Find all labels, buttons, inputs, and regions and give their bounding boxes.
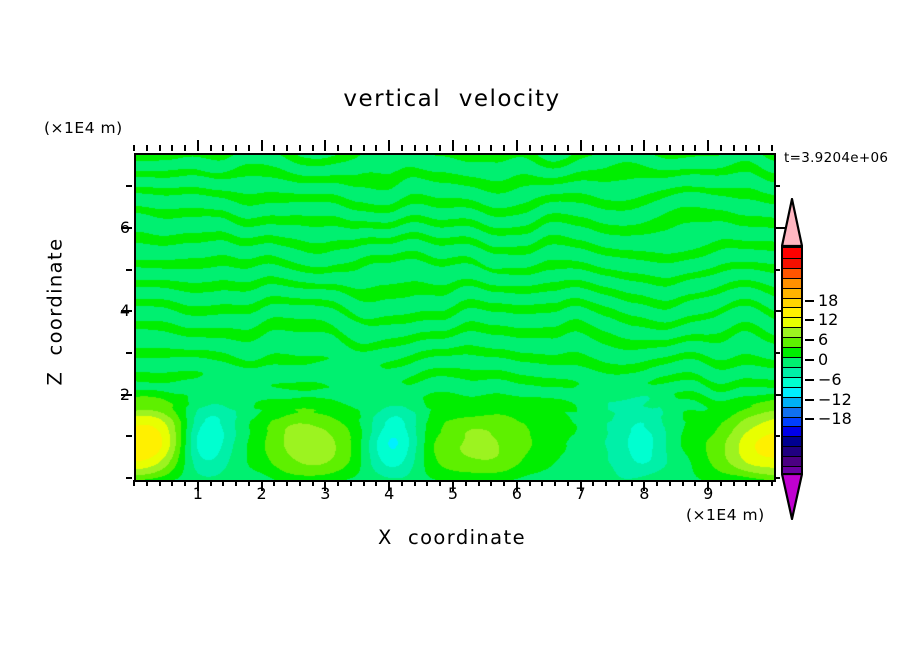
y-axis-minor-tick bbox=[126, 435, 132, 437]
x-axis-minor-tick bbox=[490, 480, 492, 486]
x-axis-top-tick bbox=[286, 145, 288, 151]
x-axis-top-tick bbox=[324, 140, 326, 151]
x-axis-top-tick bbox=[388, 140, 390, 151]
colorbar-band bbox=[783, 426, 801, 437]
x-axis-minor-tick bbox=[745, 480, 747, 486]
x-axis-top-tick bbox=[554, 145, 556, 151]
colorbar-over-arrow-icon bbox=[781, 198, 803, 247]
y-axis-tick-label: 2 bbox=[100, 385, 130, 404]
x-axis-top-tick bbox=[375, 145, 377, 151]
x-axis-top-tick bbox=[707, 140, 709, 151]
y-axis-minor-tick bbox=[126, 269, 132, 271]
x-axis-minor-tick bbox=[286, 480, 288, 486]
x-axis-top-tick bbox=[171, 145, 173, 151]
x-axis-top-tick bbox=[541, 145, 543, 151]
x-axis-top-tick bbox=[567, 145, 569, 151]
x-axis-top-tick bbox=[618, 145, 620, 151]
x-axis-top-tick bbox=[235, 145, 237, 151]
x-axis-top-tick bbox=[146, 145, 148, 151]
colorbar-tick bbox=[805, 359, 814, 361]
x-axis-top-tick bbox=[694, 145, 696, 151]
x-axis-tick-label: 5 bbox=[438, 484, 468, 503]
x-axis-minor-tick bbox=[146, 480, 148, 486]
x-axis-unit-label: (×1E4 m) bbox=[686, 506, 765, 524]
x-axis-tick-label: 3 bbox=[310, 484, 340, 503]
x-axis-top-tick bbox=[261, 140, 263, 151]
x-axis-top-tick bbox=[312, 145, 314, 151]
x-axis-tick-label: 6 bbox=[502, 484, 532, 503]
x-axis-top-tick bbox=[580, 140, 582, 151]
x-axis-minor-tick bbox=[605, 480, 607, 486]
colorbar-tick bbox=[805, 300, 814, 302]
x-axis-top-tick bbox=[159, 145, 161, 151]
x-axis-top-tick bbox=[184, 145, 186, 151]
x-axis-top-tick bbox=[592, 145, 594, 151]
colorbar-band bbox=[783, 288, 801, 299]
x-axis-top-tick bbox=[503, 145, 505, 151]
x-axis-top-tick bbox=[656, 145, 658, 151]
colorbar-band bbox=[783, 357, 801, 368]
x-axis-minor-tick bbox=[771, 480, 773, 486]
x-axis-minor-tick bbox=[733, 480, 735, 486]
colorbar-band bbox=[783, 307, 801, 318]
x-axis-minor-tick bbox=[758, 480, 760, 486]
x-axis-tick-label: 1 bbox=[183, 484, 213, 503]
colorbar-tick bbox=[805, 339, 814, 341]
page-title: vertical velocity bbox=[0, 86, 904, 112]
x-axis-top-tick bbox=[516, 140, 518, 151]
x-axis-minor-tick bbox=[222, 480, 224, 486]
x-axis-top-tick bbox=[439, 145, 441, 151]
x-axis-top-tick bbox=[452, 140, 454, 151]
x-axis-top-tick bbox=[465, 145, 467, 151]
x-axis-minor-tick bbox=[235, 480, 237, 486]
x-axis-minor-tick bbox=[414, 480, 416, 486]
x-axis-top-tick bbox=[745, 145, 747, 151]
y-axis-minor-tick bbox=[126, 185, 132, 187]
x-axis-top-tick bbox=[490, 145, 492, 151]
colorbar bbox=[779, 198, 805, 520]
x-axis-top-tick bbox=[248, 145, 250, 151]
colorbar-tick bbox=[805, 379, 814, 381]
x-axis-top-tick bbox=[771, 145, 773, 151]
colorbar-tick bbox=[805, 418, 814, 420]
x-axis-minor-tick bbox=[159, 480, 161, 486]
x-axis-minor-tick bbox=[426, 480, 428, 486]
y-axis-unit-label: (×1E4 m) bbox=[44, 119, 123, 137]
colorbar-tick-label: −18 bbox=[818, 409, 852, 428]
x-axis-top-tick bbox=[720, 145, 722, 151]
x-axis-top-tick bbox=[426, 145, 428, 151]
x-axis-minor-tick bbox=[133, 480, 135, 486]
x-axis-minor-tick bbox=[682, 480, 684, 486]
colorbar-under-arrow-icon bbox=[781, 473, 803, 520]
x-axis-top-tick bbox=[631, 145, 633, 151]
x-axis-top-tick bbox=[337, 145, 339, 151]
colorbar-tick bbox=[805, 399, 814, 401]
x-axis-tick-label: 9 bbox=[693, 484, 723, 503]
colorbar-tick-label: 0 bbox=[818, 350, 828, 369]
colorbar-band bbox=[783, 446, 801, 457]
colorbar-bands bbox=[781, 246, 803, 474]
x-axis-minor-tick bbox=[669, 480, 671, 486]
x-axis-top-tick bbox=[363, 145, 365, 151]
y-axis-minor-tick bbox=[126, 352, 132, 354]
x-axis-top-tick bbox=[682, 145, 684, 151]
colorbar-tick-label: −12 bbox=[818, 390, 852, 409]
contour-field bbox=[136, 155, 774, 480]
x-axis-top-tick bbox=[605, 145, 607, 151]
figure-canvas: vertical velocity (×1E4 m) (×1E4 m) t=3.… bbox=[0, 0, 904, 654]
x-axis-top-tick bbox=[197, 140, 199, 151]
colorbar-tick-label: 6 bbox=[818, 330, 828, 349]
x-axis-tick-label: 7 bbox=[566, 484, 596, 503]
x-axis-top-tick bbox=[478, 145, 480, 151]
x-axis-top-tick bbox=[643, 140, 645, 151]
x-axis-minor-tick bbox=[478, 480, 480, 486]
x-axis-minor-tick bbox=[554, 480, 556, 486]
colorbar-band bbox=[783, 407, 801, 418]
colorbar-tick-label: −6 bbox=[818, 370, 842, 389]
x-axis-top-tick bbox=[299, 145, 301, 151]
x-axis-top-tick bbox=[669, 145, 671, 151]
y-axis-title: Z coordinate bbox=[44, 222, 67, 402]
timestamp-label: t=3.9204e+06 bbox=[784, 150, 888, 166]
x-axis-top-tick bbox=[210, 145, 212, 151]
colorbar-band bbox=[783, 268, 801, 279]
x-axis-minor-tick bbox=[299, 480, 301, 486]
x-axis-top-tick bbox=[273, 145, 275, 151]
x-axis-top-tick bbox=[350, 145, 352, 151]
x-axis-minor-tick bbox=[618, 480, 620, 486]
colorbar-tick-label: 18 bbox=[818, 291, 838, 310]
x-axis-minor-tick bbox=[171, 480, 173, 486]
x-axis-top-tick bbox=[414, 145, 416, 151]
x-axis-title: X coordinate bbox=[0, 526, 904, 549]
x-axis-top-tick bbox=[133, 145, 135, 151]
x-axis-top-tick bbox=[222, 145, 224, 151]
x-axis-top-tick bbox=[401, 145, 403, 151]
colorbar-tick bbox=[805, 319, 814, 321]
x-axis-minor-tick bbox=[350, 480, 352, 486]
y-axis-right-tick bbox=[774, 185, 780, 187]
x-axis-top-tick bbox=[758, 145, 760, 151]
colorbar-band bbox=[783, 337, 801, 348]
x-axis-top-tick bbox=[733, 145, 735, 151]
x-axis-tick-label: 8 bbox=[629, 484, 659, 503]
contour-plot-area bbox=[134, 153, 776, 482]
y-axis-minor-tick bbox=[126, 477, 132, 479]
colorbar-tick-label: 12 bbox=[818, 310, 838, 329]
x-axis-minor-tick bbox=[363, 480, 365, 486]
x-axis-minor-tick bbox=[541, 480, 543, 486]
x-axis-tick-label: 2 bbox=[247, 484, 277, 503]
x-axis-top-tick bbox=[529, 145, 531, 151]
y-axis-tick-label: 6 bbox=[100, 218, 130, 237]
y-axis-tick-label: 4 bbox=[100, 301, 130, 320]
colorbar-band bbox=[783, 377, 801, 388]
x-axis-tick-label: 4 bbox=[374, 484, 404, 503]
